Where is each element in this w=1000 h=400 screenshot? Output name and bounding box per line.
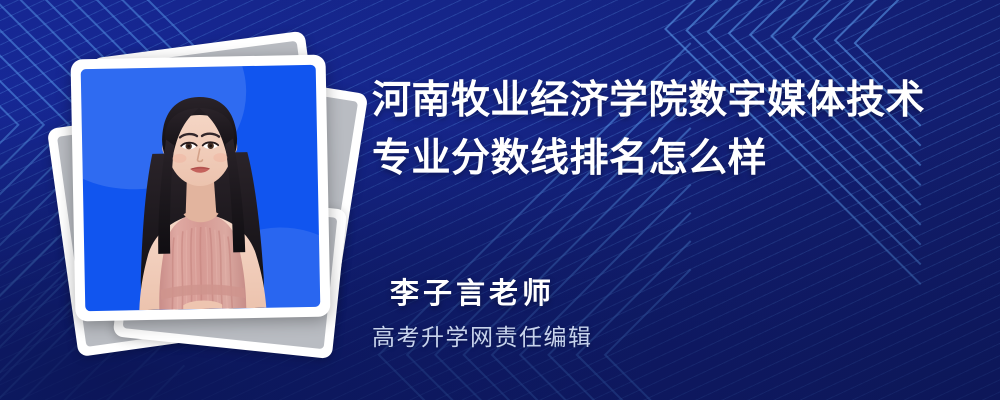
teacher-portrait-illustration [81,65,321,311]
teacher-photo [81,65,321,311]
author-role: 高考升学网责任编辑 [372,318,593,352]
teacher-photo-stack [60,38,350,338]
teacher-photo-frame [71,55,331,322]
article-header-banner: 河南牧业经济学院数字媒体技术专业分数线排名怎么样 李子言老师 高考升学网责任编辑 [0,0,1000,400]
page-title: 河南牧业经济学院数字媒体技术专业分数线排名怎么样 [372,72,952,187]
author-name: 李子言老师 [390,270,555,312]
banner-text-column: 河南牧业经济学院数字媒体技术专业分数线排名怎么样 李子言老师 高考升学网责任编辑 [372,0,972,400]
